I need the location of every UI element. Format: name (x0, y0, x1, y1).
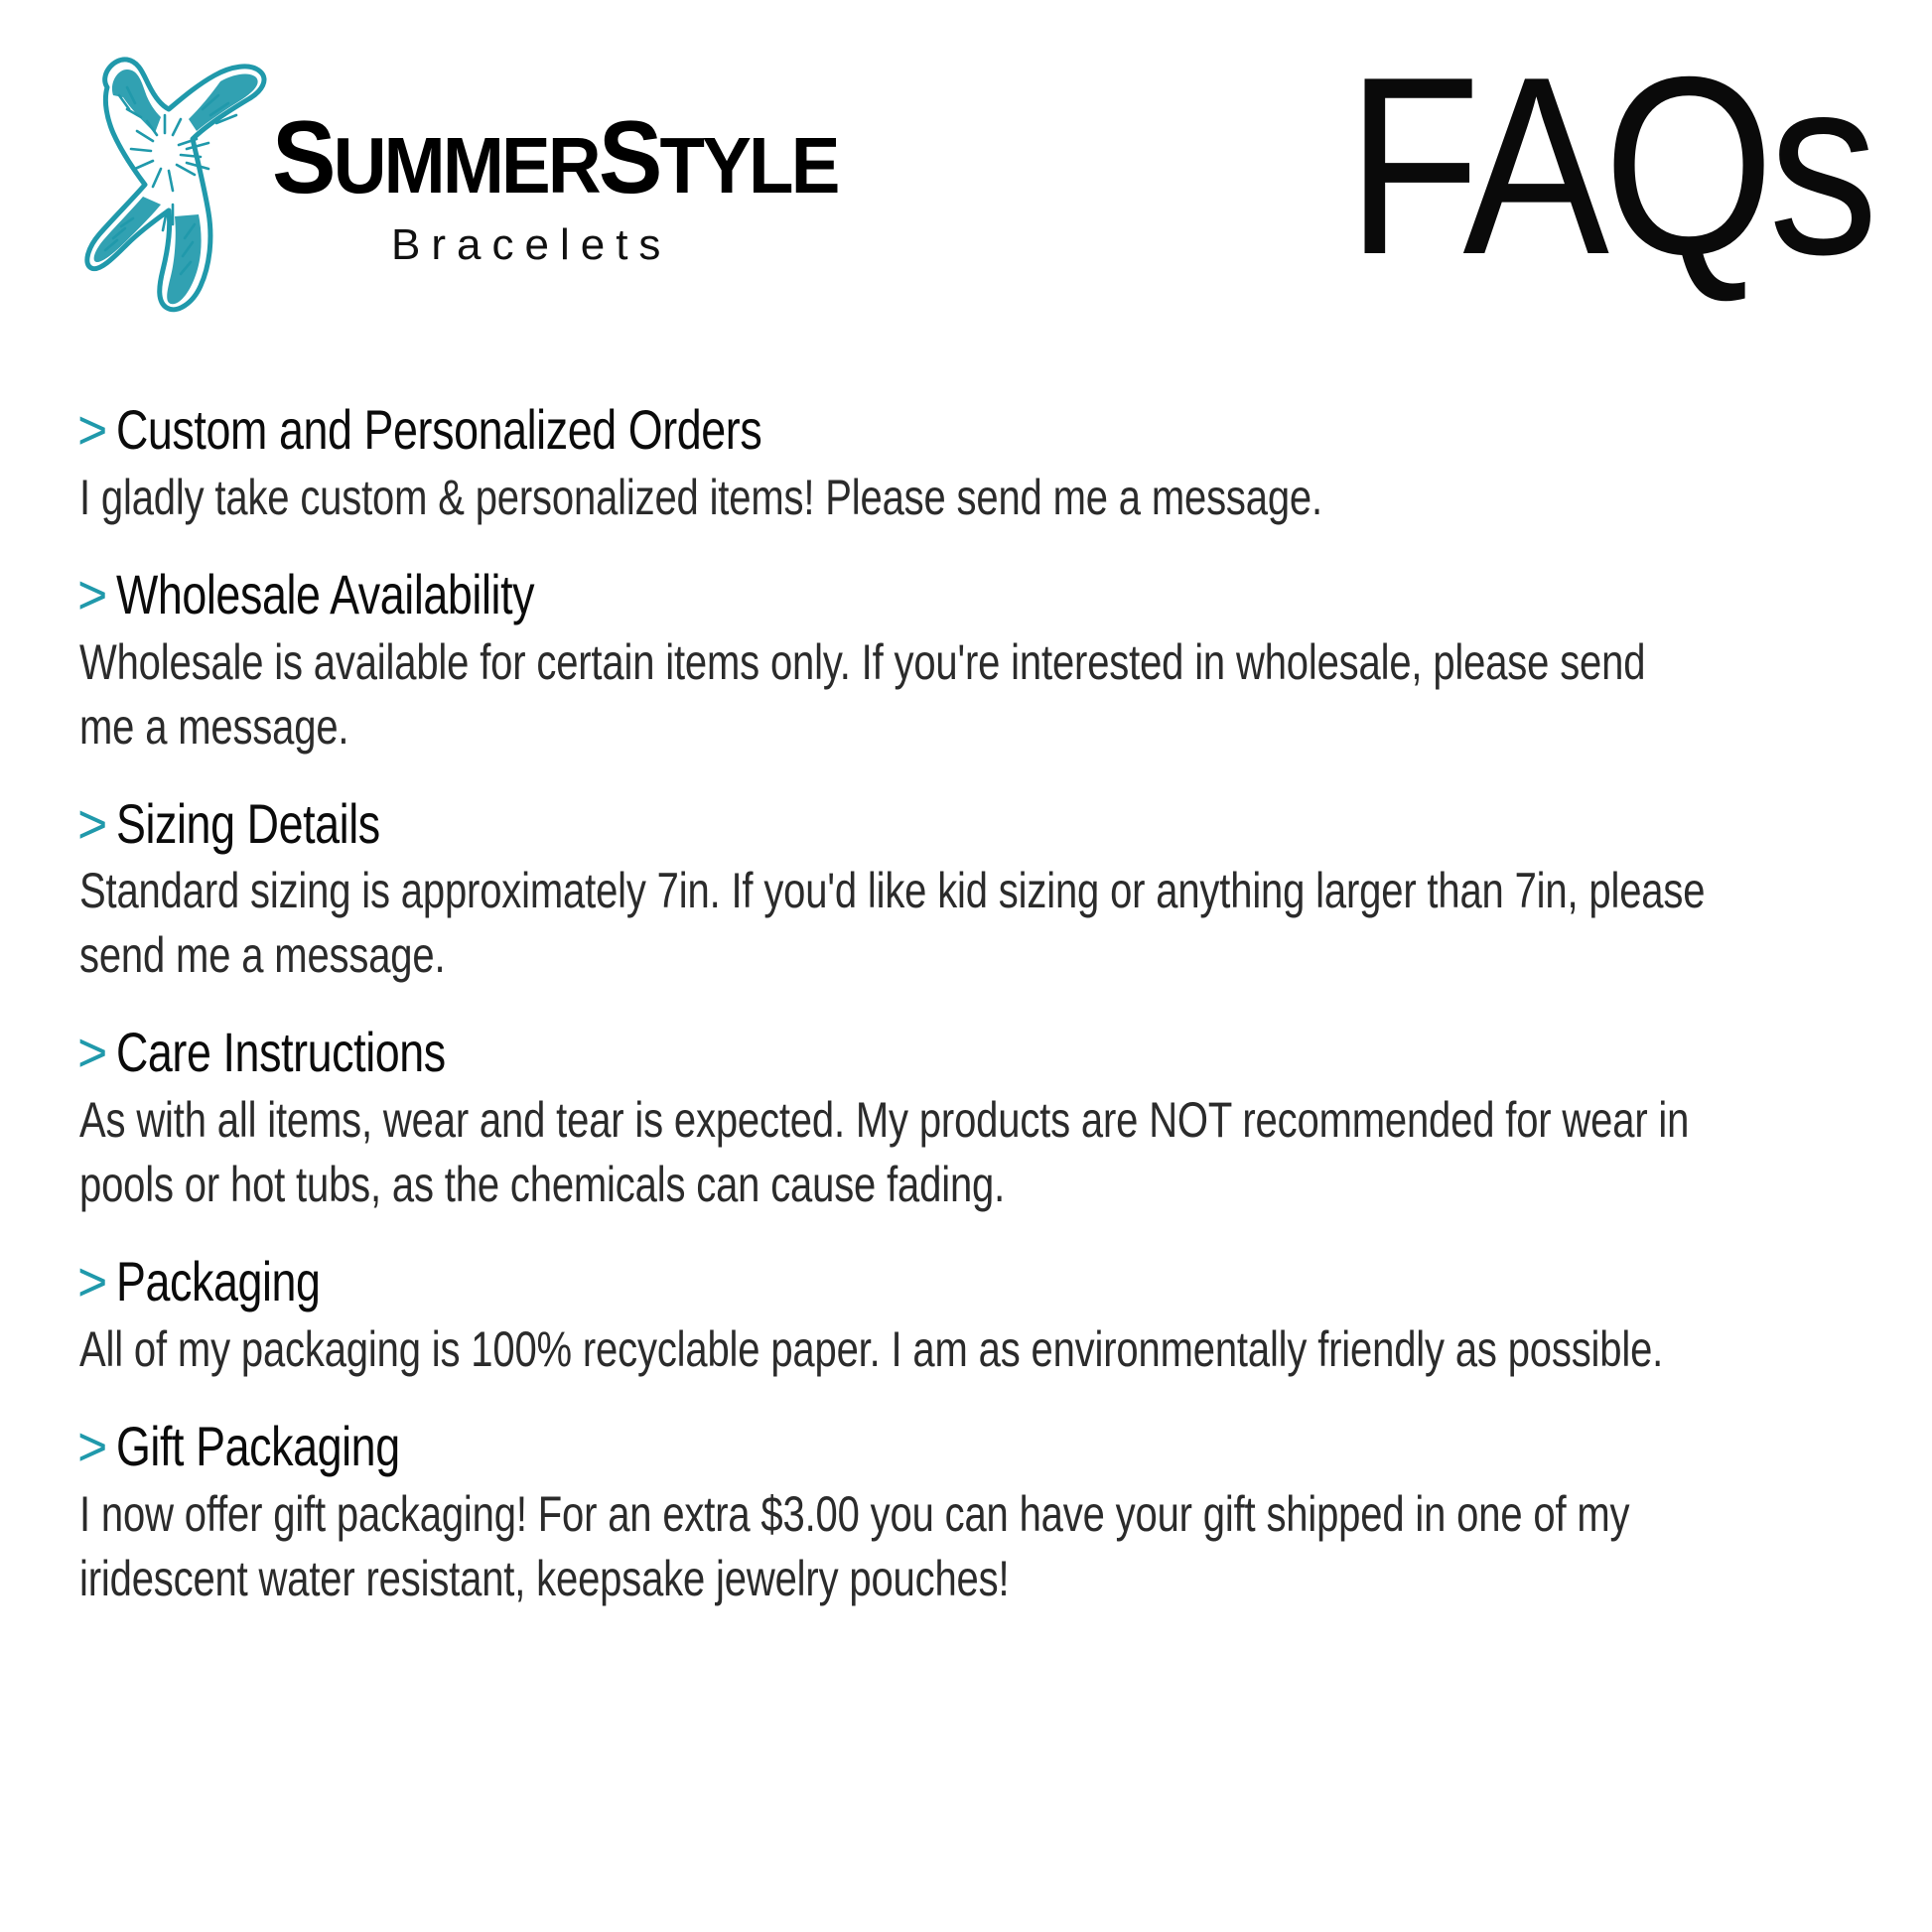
faq-item: > Care Instructions As with all items, w… (79, 1024, 1708, 1217)
faq-item: > Wholesale Availability Wholesale is av… (79, 566, 1708, 759)
faq-question[interactable]: > Gift Packaging (79, 1418, 1382, 1476)
brand-wordmark: SUMMERSTYLE Bracelets (272, 111, 880, 270)
faq-item: > Packaging All of my packaging is 100% … (79, 1253, 1708, 1382)
faq-question-text: Packaging (116, 1253, 321, 1311)
faq-answer: I gladly take custom & personalized item… (79, 466, 1708, 530)
faq-question-text: Custom and Personalized Orders (116, 401, 761, 460)
faq-answer: As with all items, wear and tear is expe… (79, 1088, 1708, 1217)
chevron-right-icon: > (77, 796, 107, 852)
brand-name-s2: S (599, 100, 660, 215)
faq-question-text: Gift Packaging (116, 1418, 400, 1476)
faq-item: > Gift Packaging I now offer gift packag… (79, 1418, 1708, 1611)
chevron-right-icon: > (77, 1025, 107, 1080)
faq-question-text: Sizing Details (116, 795, 380, 854)
faq-answer: I now offer gift packaging! For an extra… (79, 1482, 1708, 1611)
chevron-right-icon: > (77, 567, 107, 622)
faq-question[interactable]: > Custom and Personalized Orders (79, 401, 1382, 460)
brand-name-s1: S (272, 100, 334, 215)
faq-answer: Wholesale is available for certain items… (79, 630, 1708, 759)
faq-question[interactable]: > Sizing Details (79, 795, 1382, 854)
chevron-right-icon: > (77, 1254, 107, 1310)
faq-item: > Custom and Personalized Orders I gladl… (79, 401, 1708, 530)
chevron-right-icon: > (77, 1419, 107, 1474)
page-header: SUMMERSTYLE Bracelets FAQs (0, 0, 1932, 328)
faq-item: > Sizing Details Standard sizing is appr… (79, 795, 1708, 989)
brand-logo: SUMMERSTYLE Bracelets (69, 22, 880, 318)
faq-question[interactable]: > Care Instructions (79, 1024, 1382, 1082)
page-title: FAQs (1346, 40, 1872, 293)
brand-name-tyle: TYLE (660, 121, 838, 209)
starfish-icon (69, 30, 278, 318)
brand-name-ummer: UMMER (334, 121, 599, 209)
brand-tagline: Bracelets (391, 220, 880, 270)
faq-question[interactable]: > Packaging (79, 1253, 1382, 1311)
chevron-right-icon: > (77, 402, 107, 458)
faq-question-text: Wholesale Availability (116, 566, 534, 624)
faq-list: > Custom and Personalized Orders I gladl… (79, 401, 1708, 1611)
faq-answer: Standard sizing is approximately 7in. If… (79, 859, 1708, 988)
faq-answer: All of my packaging is 100% recyclable p… (79, 1317, 1708, 1382)
faq-question-text: Care Instructions (116, 1024, 446, 1082)
brand-name: SUMMERSTYLE (272, 111, 838, 207)
faq-question[interactable]: > Wholesale Availability (79, 566, 1382, 624)
